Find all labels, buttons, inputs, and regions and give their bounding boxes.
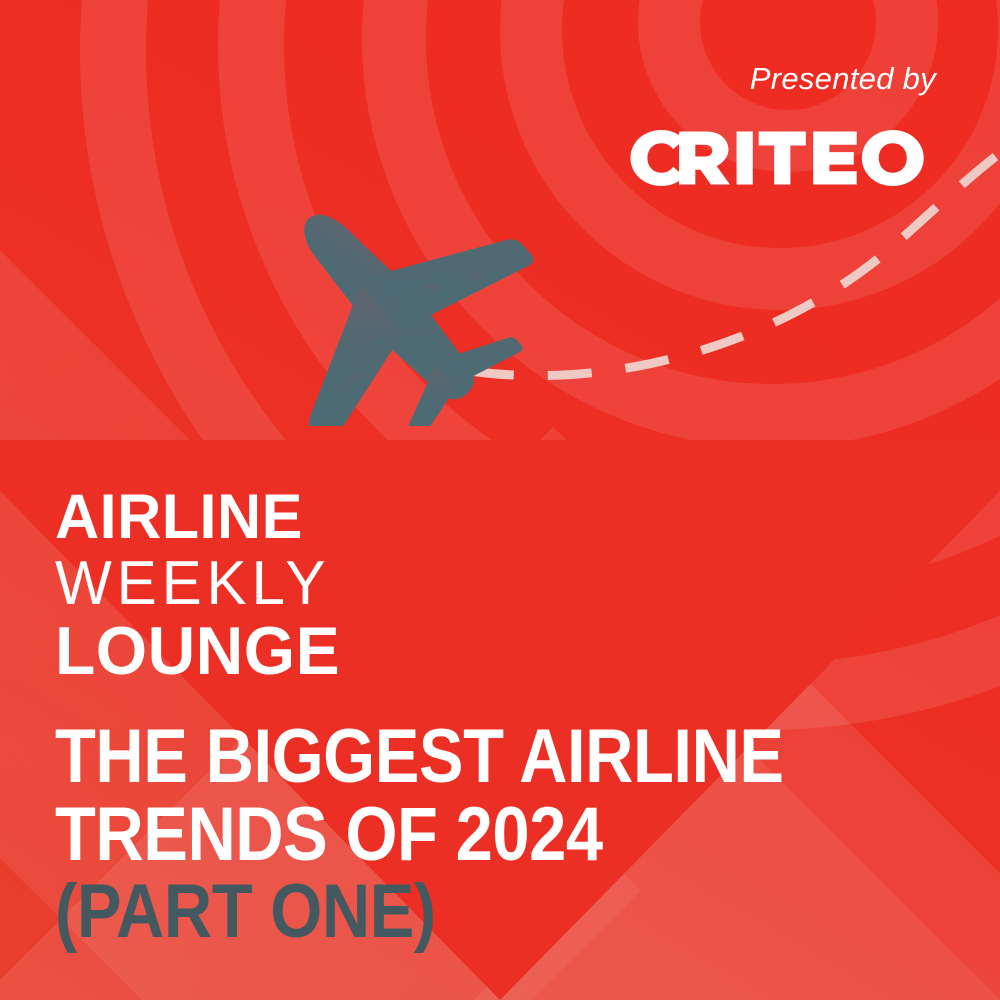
brand-line-weekly: WEEKLY xyxy=(55,554,559,615)
headline-line-2: TRENDS OF 2024 xyxy=(55,796,847,874)
episode-title: THE BIGGEST AIRLINE TRENDS OF 2024 (PART… xyxy=(55,718,955,951)
podcast-cover: Presented by CRITEO AIRLINE WEEKLY LOUNG… xyxy=(0,0,1000,1000)
brand-line-lounge: LOUNGE xyxy=(55,618,559,685)
brand-line-airline: AIRLINE xyxy=(55,487,559,549)
headline-line-1: THE BIGGEST AIRLINE xyxy=(55,718,847,796)
airplane-silhouette-icon xyxy=(238,186,538,426)
headline-line-3: (PART ONE) xyxy=(55,873,847,951)
brand-wordmark: AIRLINE WEEKLY LOUNGE xyxy=(55,487,575,685)
criteo-logo-icon: CRITEO xyxy=(629,130,938,186)
presented-by-label: Presented by xyxy=(750,61,936,97)
